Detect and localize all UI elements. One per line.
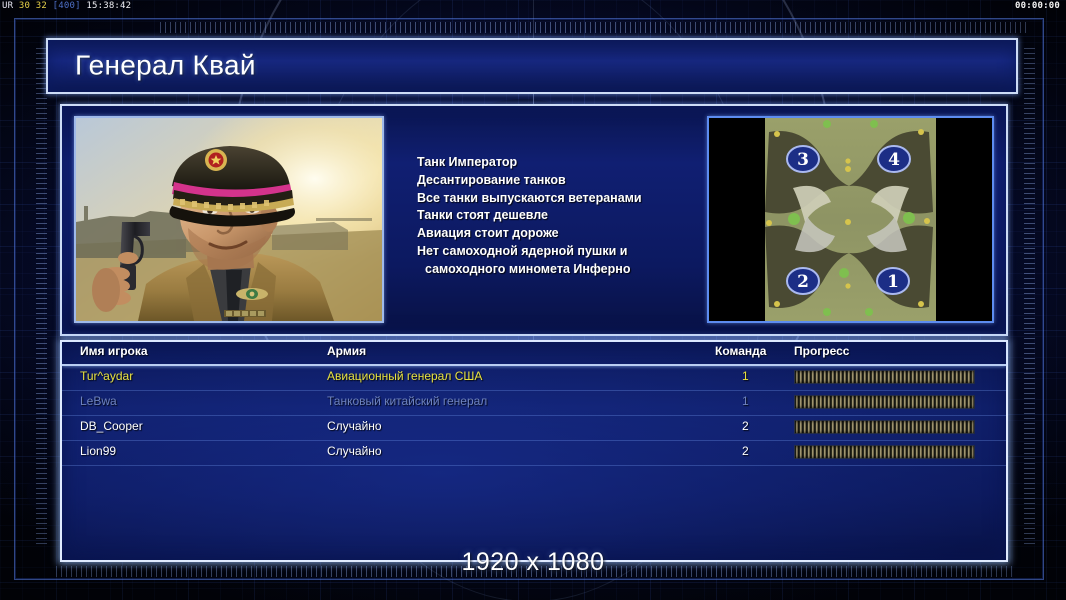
description-line: Авиация стоит дороже [417, 225, 717, 243]
description-line: Все танки выпускаются ветеранами [417, 190, 717, 208]
player-name: Tur^aydar [80, 369, 133, 383]
player-army[interactable]: Авиационный генерал США [327, 369, 482, 383]
svg-text:2: 2 [797, 272, 809, 292]
player-team[interactable]: 1 [742, 394, 749, 408]
player-army[interactable]: Случайно [327, 444, 382, 458]
table-row[interactable]: LeBwa Танковый китайский генерал 1 [62, 390, 1006, 416]
map-preview[interactable]: 3 4 2 1 [707, 116, 994, 323]
description-line: Десантирование танков [417, 172, 717, 190]
description-line: Танк Император [417, 154, 717, 172]
status-timer: 00:00:00 [1015, 0, 1060, 13]
resolution-label: 1920 x 1080 [0, 548, 1066, 577]
players-table-header: Имя игрока Армия Команда Прогресс [62, 342, 1006, 366]
description-line: самоходного миномета Инферно [417, 261, 717, 279]
player-team[interactable]: 2 [742, 419, 749, 433]
table-row[interactable]: Tur^aydar Авиационный генерал США 1 [62, 365, 1006, 391]
svg-text:4: 4 [888, 150, 900, 170]
status-value-bracket: [400] [53, 1, 81, 11]
player-progress-bar [794, 420, 975, 434]
general-portrait [74, 116, 384, 323]
player-army[interactable]: Танковый китайский генерал [327, 394, 487, 408]
player-name: LeBwa [80, 394, 117, 408]
status-value-fps: 30 [19, 1, 30, 11]
status-value-ping: 32 [36, 1, 47, 11]
player-name: Lion99 [80, 444, 116, 458]
player-team[interactable]: 2 [742, 444, 749, 458]
column-header-team: Команда [715, 344, 766, 358]
player-progress-bar [794, 445, 975, 459]
player-progress-bar [794, 370, 975, 384]
player-army[interactable]: Случайно [327, 419, 382, 433]
player-name: DB_Cooper [80, 419, 143, 433]
description-line: Нет самоходной ядерной пушки и [417, 243, 717, 261]
svg-text:1: 1 [887, 272, 899, 292]
column-header-player-name: Имя игрока [80, 344, 148, 358]
game-lobby-screen: UR 30 32 [400] 15:38:42 00:00:00 Генерал… [0, 0, 1066, 600]
status-label-ur: UR [2, 1, 13, 11]
status-clock: 15:38:42 [86, 1, 131, 11]
svg-text:3: 3 [797, 150, 809, 170]
column-header-progress: Прогресс [794, 344, 849, 358]
column-header-army: Армия [327, 344, 366, 358]
title-panel: Генерал Квай [46, 38, 1018, 94]
general-description: Танк Император Десантирование танков Все… [417, 154, 717, 279]
status-bar: UR 30 32 [400] 15:38:42 00:00:00 [0, 0, 1066, 13]
players-panel: Имя игрока Армия Команда Прогресс Tur^ay… [60, 340, 1008, 562]
general-info-panel: Танк Император Десантирование танков Все… [60, 104, 1008, 336]
page-title: Генерал Квай [75, 49, 256, 81]
table-row[interactable]: Lion99 Случайно 2 [62, 440, 1006, 466]
description-line: Танки стоят дешевле [417, 207, 717, 225]
status-bar-left: UR 30 32 [400] 15:38:42 [2, 0, 131, 13]
table-row[interactable]: DB_Cooper Случайно 2 [62, 415, 1006, 441]
player-team[interactable]: 1 [742, 369, 749, 383]
player-progress-bar [794, 395, 975, 409]
